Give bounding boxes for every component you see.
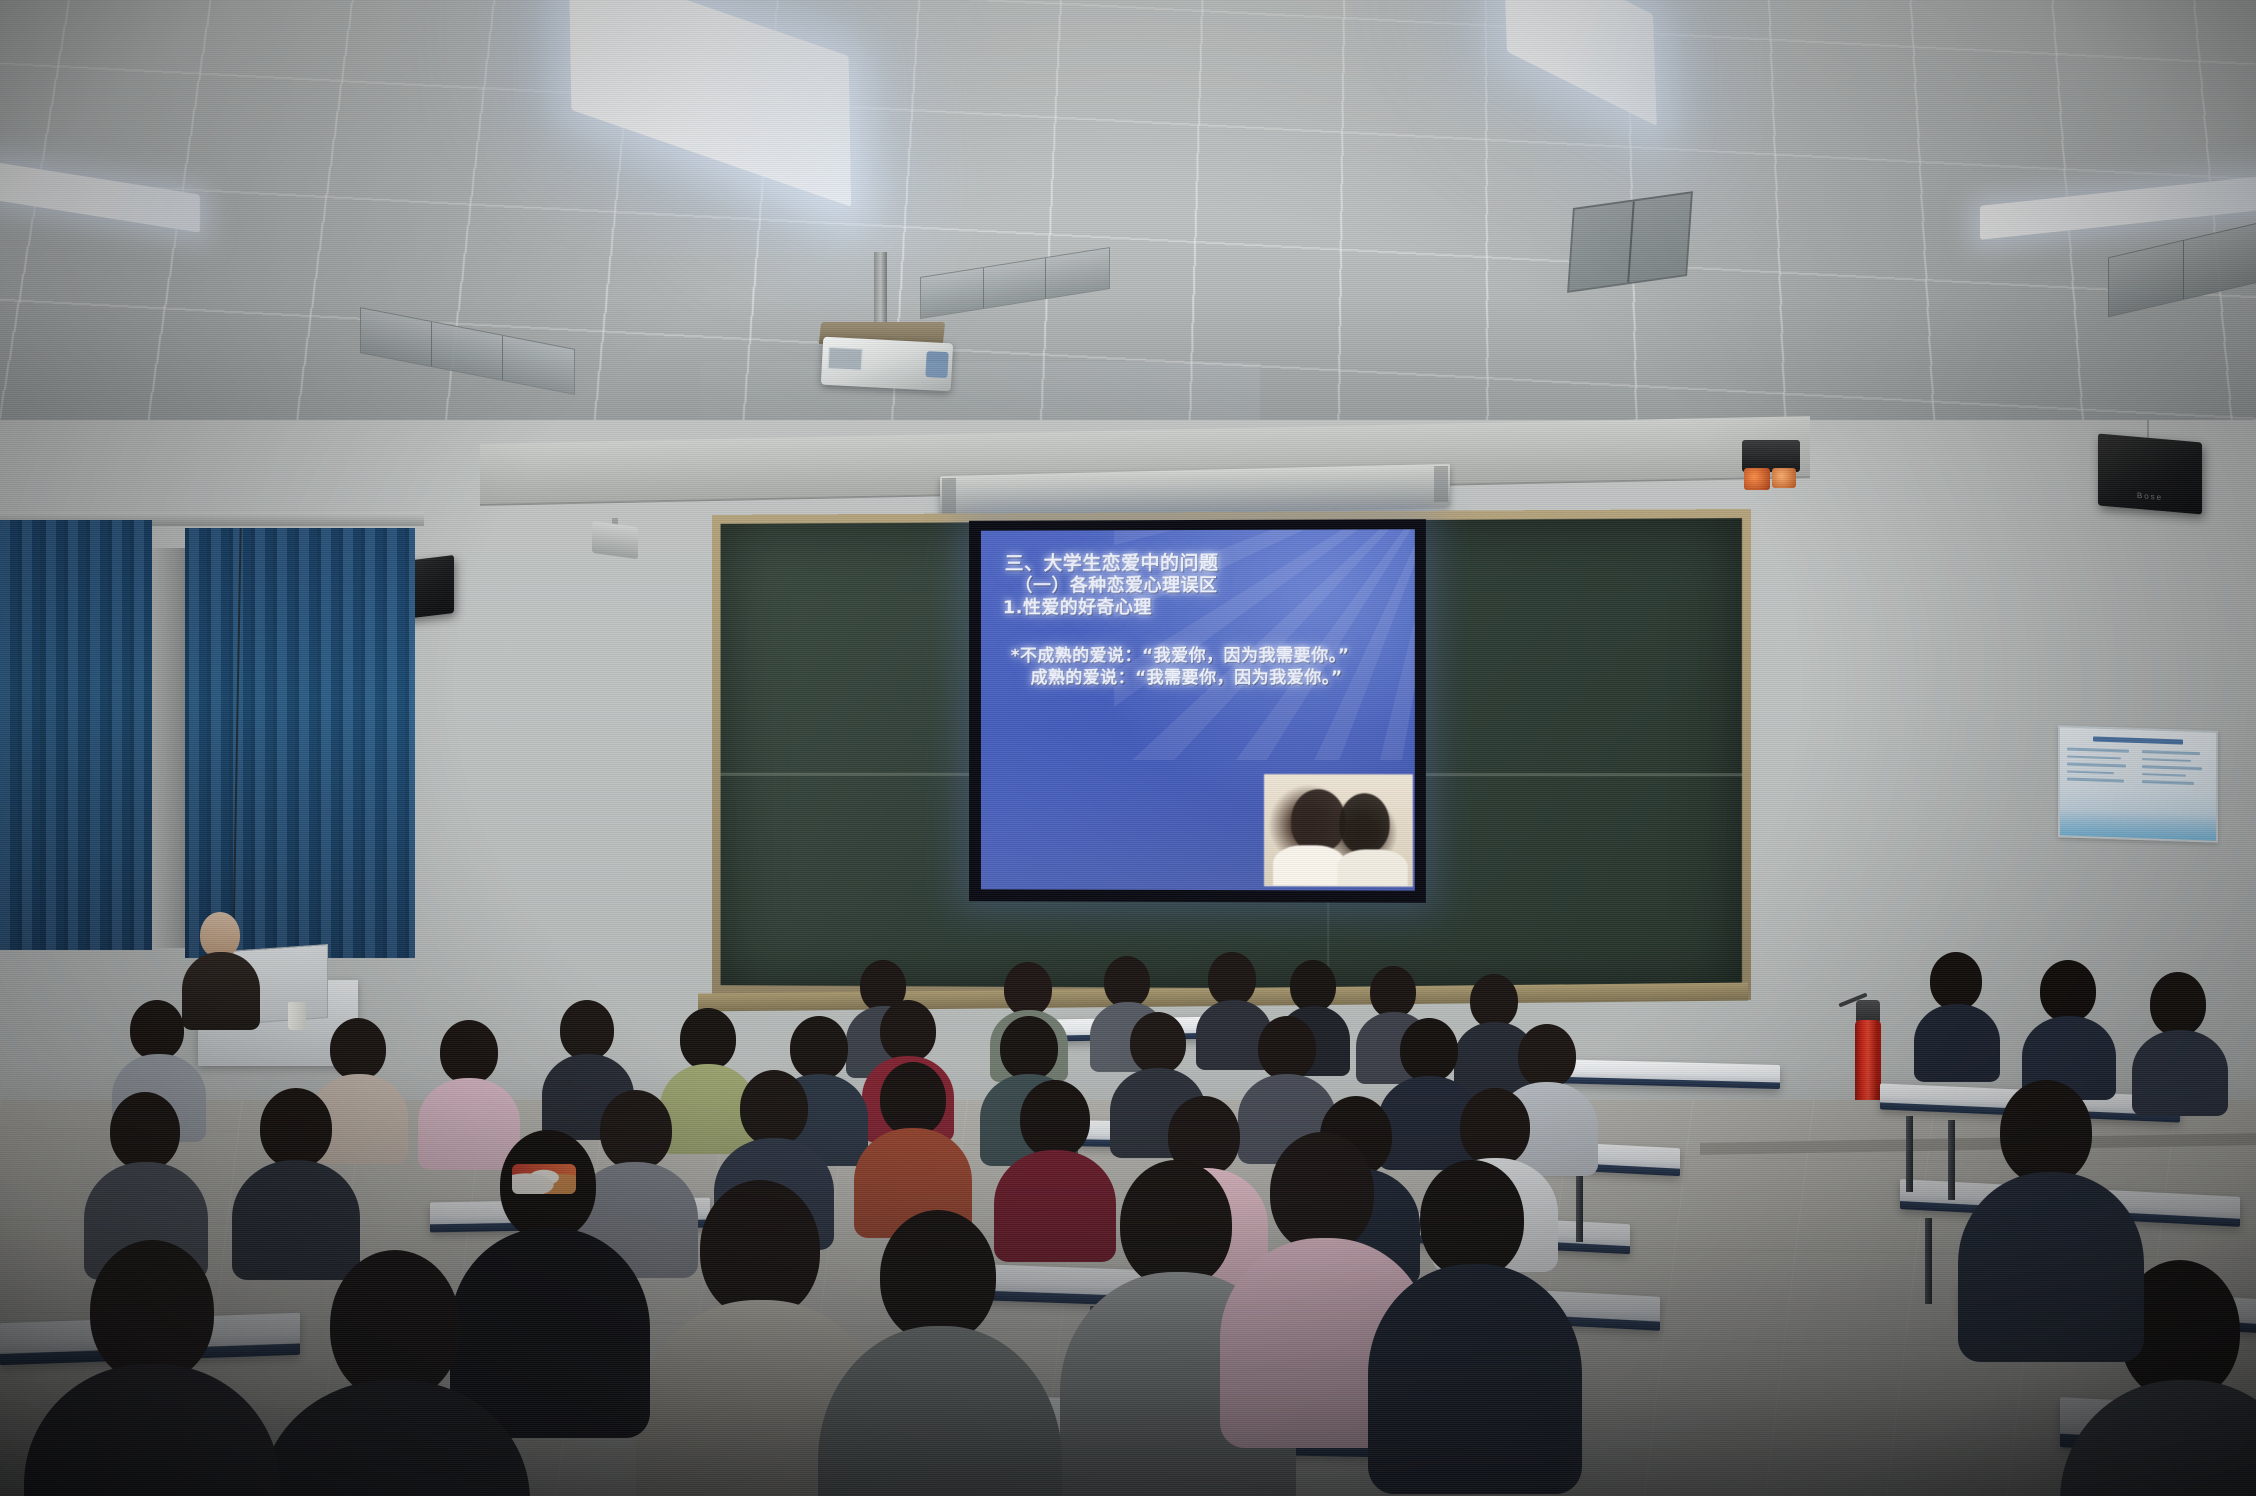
spotlight-lamp [1744,468,1770,490]
projector-mount-rod [874,252,887,326]
drinking-cup [288,1002,306,1030]
window-curtain[interactable] [0,520,44,950]
presentation-slide: 三、大学生恋爱中的问题 （一）各种恋爱心理误区 1.性爱的好奇心理 *不成熟的爱… [981,529,1415,890]
window-curtain[interactable] [42,520,152,950]
slide-text-block: 三、大学生恋爱中的问题 （一）各种恋爱心理误区 1.性爱的好奇心理 *不成熟的爱… [981,551,1415,689]
speaker-brand-label: Bose [2098,487,2202,505]
kappa-logo-icon [512,1164,576,1194]
desk-leg [1906,1116,1913,1192]
projector-vent [828,347,863,371]
projector-lens-icon [925,351,948,378]
classroom-photo: 三、大学生恋爱中的问题 （一）各种恋爱心理误区 1.性爱的好奇心理 *不成熟的爱… [0,0,2256,1496]
desk-leg [1576,1172,1583,1242]
wall-notice-board [2058,725,2218,843]
slide-item-1: 1.性爱的好奇心理 [981,597,1415,620]
slide-quote-mature: 成熟的爱说：“我需要你，因为我爱你。” [981,667,1415,689]
wall-speaker-right: Bose [2098,433,2202,514]
ceiling-vent-icon [1567,191,1693,293]
slide-quote-immature: *不成熟的爱说：“我爱你，因为我需要你。” [981,645,1415,668]
desk-leg [1948,1120,1955,1200]
window-curtain[interactable] [185,528,415,958]
spotlight-lamp [1772,468,1796,488]
desk-leg [1925,1218,1932,1304]
slide-photo-couple [1264,774,1413,887]
slide-quote-block: *不成熟的爱说：“我爱你，因为我需要你。” 成熟的爱说：“我需要你，因为我爱你。… [981,645,1415,690]
projector-icon [821,337,953,392]
projection-screen[interactable]: 三、大学生恋爱中的问题 （一）各种恋爱心理误区 1.性爱的好奇心理 *不成熟的爱… [969,519,1426,903]
slide-subheading: （一）各种恋爱心理误区 [981,575,1415,598]
wall-camera-icon [592,521,638,559]
slide-heading: 三、大学生恋爱中的问题 [981,551,1415,575]
